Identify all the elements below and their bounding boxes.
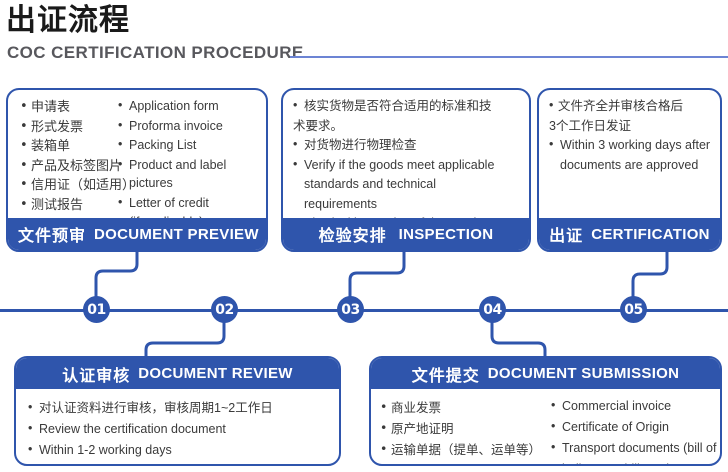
certification-list: 文件齐全并审核合格后 3个工作日发证 Within 3 working days… bbox=[549, 97, 721, 175]
card-inspection: 核实货物是否符合适用的标准和技 术要求。 对货物进行物理检查 Verify if… bbox=[281, 88, 531, 252]
list-item-continuation: requirements bbox=[293, 195, 529, 214]
document-review-list: 对认证资料进行审核，审核周期1~2工作日 Review the certific… bbox=[28, 398, 333, 461]
page-title-cn: 出证流程 bbox=[6, 4, 130, 38]
card-certification-label-bar: 出证 CERTIFICATION bbox=[539, 218, 720, 250]
card-label-en: INSPECTION bbox=[399, 226, 494, 243]
list-item: Product and label pictures bbox=[118, 156, 268, 193]
timeline-node-label: 03 bbox=[341, 302, 359, 318]
card-label-cn: 文件提交 bbox=[412, 362, 480, 386]
card-document-review-label-bar: 认证审核 DOCUMENT REVIEW bbox=[16, 358, 339, 389]
card-label-en: CERTIFICATION bbox=[591, 226, 710, 243]
list-item-continuation: 3个工作日发证 bbox=[549, 117, 721, 136]
card-label-cn: 出证 bbox=[549, 222, 583, 246]
card-document-preview: 申请表 形式发票 装箱单 产品及标签图片 信用证（如适用） 测试报告 Appli… bbox=[6, 88, 268, 252]
list-item: 文件齐全并审核合格后 bbox=[549, 97, 721, 116]
list-item: 原产地证明 bbox=[380, 419, 545, 439]
timeline-node-05[interactable]: 05 bbox=[620, 296, 647, 323]
card-document-preview-body: 申请表 形式发票 装箱单 产品及标签图片 信用证（如适用） 测试报告 Appli… bbox=[8, 97, 266, 221]
list-item: 对货物进行物理检查 bbox=[293, 136, 529, 155]
coc-certification-procedure-infographic: 出证流程 COC CERTIFICATION PROCEDURE 申请表 形式发… bbox=[0, 0, 728, 472]
list-item: 商业发票 bbox=[380, 398, 545, 418]
list-item: Review the certification document bbox=[28, 419, 333, 439]
list-item-continuation: documents are approved bbox=[549, 156, 721, 175]
card-label-en: DOCUMENT PREVIEW bbox=[94, 226, 259, 243]
card-document-submission: 文件提交 DOCUMENT SUBMISSION 商业发票 原产地证明 运输单据… bbox=[369, 356, 722, 466]
list-item: Letter of credit bbox=[118, 194, 268, 213]
list-item: 对认证资料进行审核，审核周期1~2工作日 bbox=[28, 398, 333, 418]
list-item: Packing List bbox=[118, 136, 268, 155]
timeline-node-label: 05 bbox=[624, 302, 642, 318]
card-inspection-label-bar: 检验安排 INSPECTION bbox=[283, 218, 529, 250]
timeline-node-02[interactable]: 02 bbox=[211, 296, 238, 323]
list-item: Verify if the goods meet applicable bbox=[293, 156, 529, 175]
timeline-node-label: 02 bbox=[215, 302, 233, 318]
card-label-en: DOCUMENT REVIEW bbox=[138, 365, 293, 382]
list-item-continuation: standards and technical bbox=[293, 175, 529, 194]
timeline-node-04[interactable]: 04 bbox=[479, 296, 506, 323]
header-divider-rule bbox=[290, 56, 728, 58]
document-submission-cn-list: 商业发票 原产地证明 运输单据（提单、运单等） bbox=[380, 398, 545, 461]
list-item-continuation: 术要求。 bbox=[293, 117, 529, 136]
document-submission-en-list: Commercial invoice Certificate of Origin… bbox=[551, 396, 721, 466]
list-item-continuation: lading, waybill, etc.) bbox=[551, 459, 721, 466]
list-item: Application form bbox=[118, 97, 268, 116]
card-label-cn: 认证审核 bbox=[62, 362, 130, 386]
list-item: Transport documents (bill of bbox=[551, 438, 721, 458]
timeline-node-01[interactable]: 01 bbox=[83, 296, 110, 323]
card-document-review: 认证审核 DOCUMENT REVIEW 对认证资料进行审核，审核周期1~2工作… bbox=[14, 356, 341, 466]
inspection-list: 核实货物是否符合适用的标准和技 术要求。 对货物进行物理检查 Verify if… bbox=[293, 97, 529, 234]
card-label-cn: 文件预审 bbox=[18, 222, 86, 246]
timeline-node-label: 01 bbox=[87, 302, 105, 318]
list-item: 核实货物是否符合适用的标准和技 bbox=[293, 97, 529, 116]
list-item: Commercial invoice bbox=[551, 396, 721, 416]
list-item: Within 3 working days after bbox=[549, 136, 721, 155]
card-label-en: DOCUMENT SUBMISSION bbox=[488, 365, 680, 382]
list-item: Within 1-2 working days bbox=[28, 440, 333, 460]
page-title-en: COC CERTIFICATION PROCEDURE bbox=[7, 42, 304, 64]
card-document-submission-label-bar: 文件提交 DOCUMENT SUBMISSION bbox=[371, 358, 720, 389]
timeline-node-label: 04 bbox=[483, 302, 501, 318]
list-item: 运输单据（提单、运单等） bbox=[380, 440, 545, 460]
card-document-preview-label-bar: 文件预审 DOCUMENT PREVIEW bbox=[8, 218, 266, 250]
list-item: Proforma invoice bbox=[118, 117, 268, 136]
card-label-cn: 检验安排 bbox=[319, 222, 387, 246]
card-certification: 文件齐全并审核合格后 3个工作日发证 Within 3 working days… bbox=[537, 88, 722, 252]
list-item: Certificate of Origin bbox=[551, 417, 721, 437]
timeline-node-03[interactable]: 03 bbox=[337, 296, 364, 323]
